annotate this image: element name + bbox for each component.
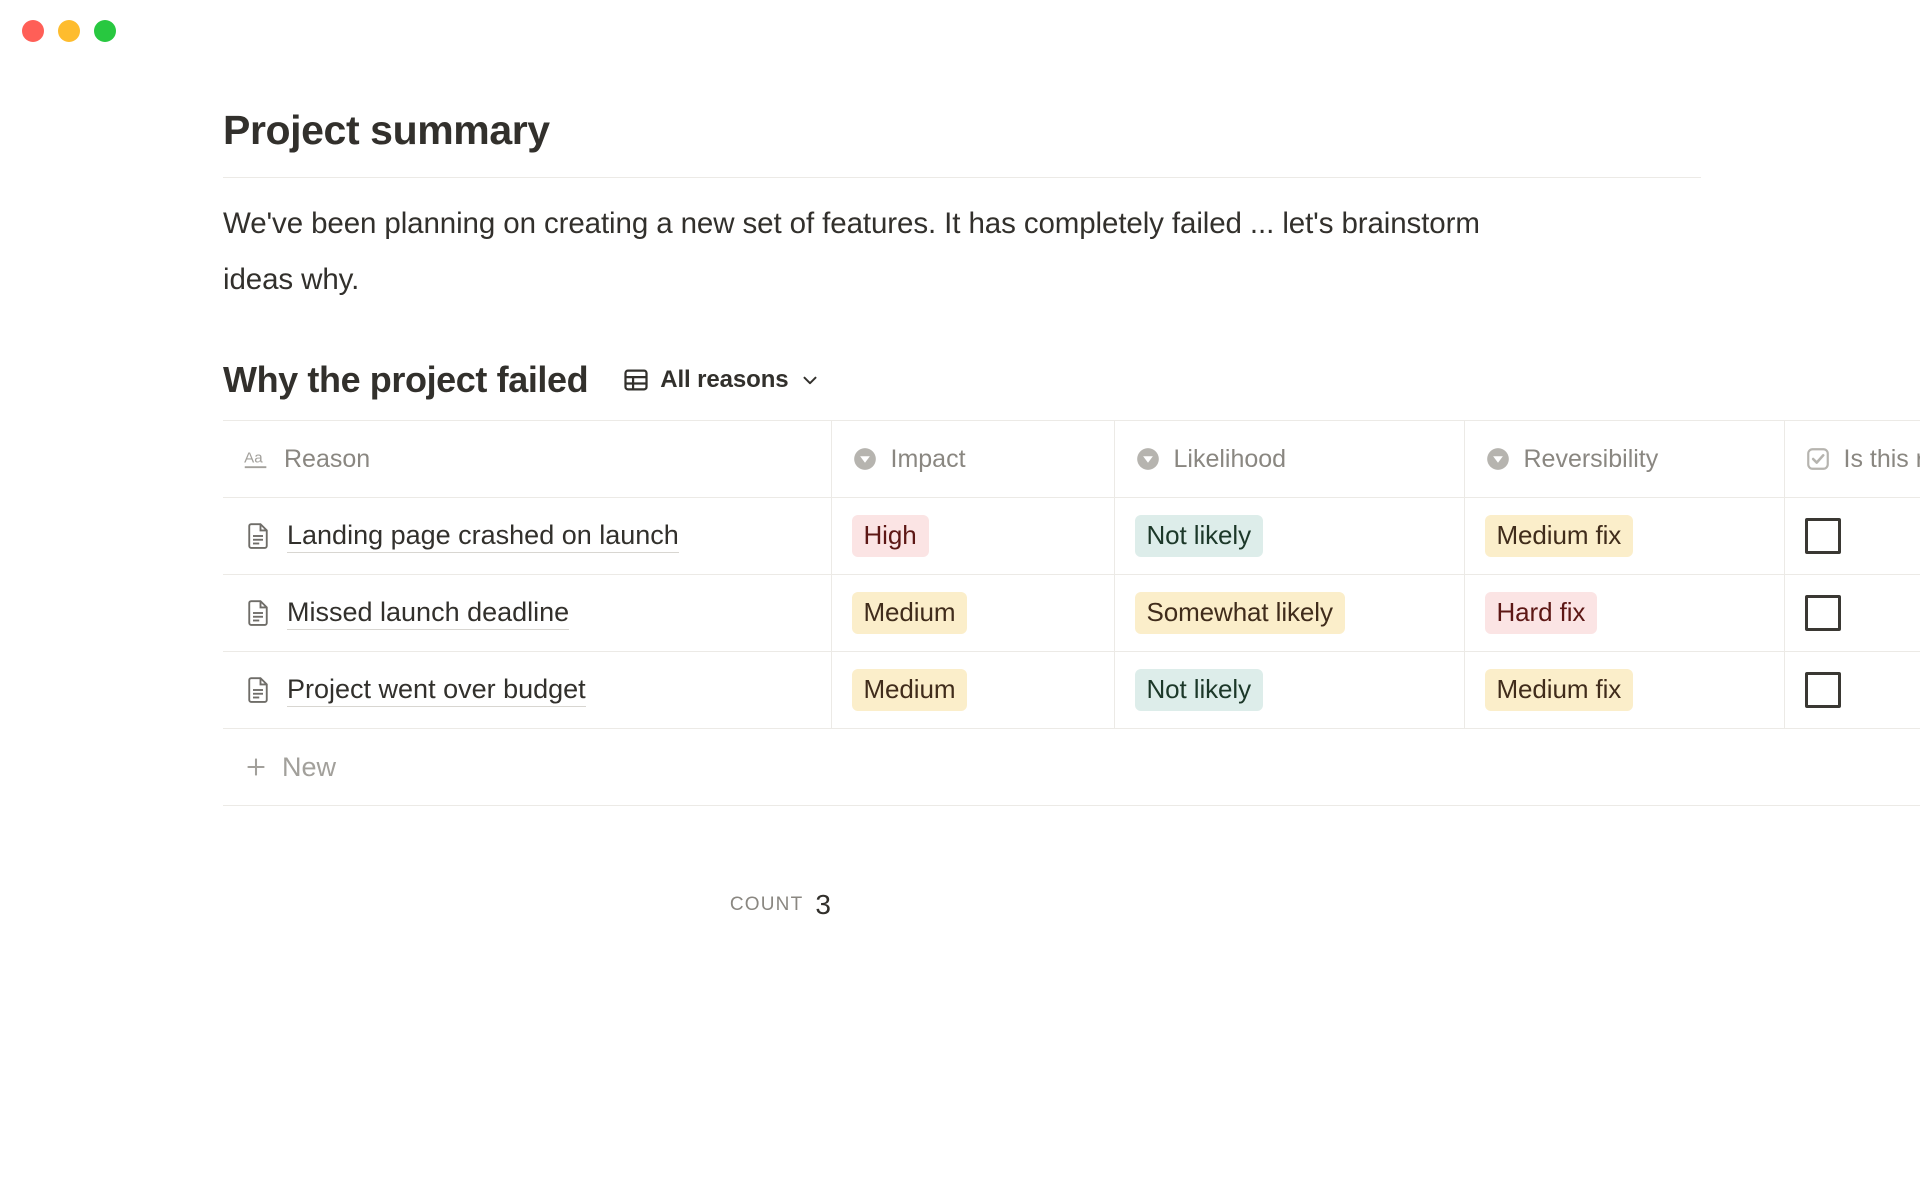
column-header-reason[interactable]: Aa Reason xyxy=(223,421,831,498)
column-header-label: Impact xyxy=(891,445,966,474)
likelihood-tag: Not likely xyxy=(1135,669,1263,712)
cell-likelihood[interactable]: Not likely xyxy=(1114,652,1464,729)
cell-reversibility[interactable]: Hard fix xyxy=(1464,575,1784,652)
table-row[interactable]: Missed launch deadline Medium Somewhat l… xyxy=(223,575,1920,652)
column-header-label: Reversibility xyxy=(1524,445,1659,474)
select-type-icon xyxy=(852,446,878,472)
database-header: Why the project failed All reasons xyxy=(223,362,827,398)
chevron-down-icon xyxy=(799,369,821,391)
text-type-icon: Aa xyxy=(243,445,271,473)
plus-icon xyxy=(243,754,269,780)
new-row[interactable]: New xyxy=(223,729,1920,806)
row-checkbox[interactable] xyxy=(1805,595,1841,631)
cell-likelihood[interactable]: Not likely xyxy=(1114,498,1464,575)
column-header-label: Reason xyxy=(284,445,370,474)
minimize-button[interactable] xyxy=(58,20,80,42)
cell-likelihood[interactable]: Somewhat likely xyxy=(1114,575,1464,652)
page-icon xyxy=(243,675,273,705)
new-row-cell[interactable]: New xyxy=(223,729,1920,806)
reason-title[interactable]: Missed launch deadline xyxy=(287,597,569,630)
table-row[interactable]: Project went over budget Medium Not like… xyxy=(223,652,1920,729)
cell-reversibility[interactable]: Medium fix xyxy=(1464,652,1784,729)
impact-tag: High xyxy=(852,515,929,558)
cell-reason[interactable]: Landing page crashed on launch xyxy=(223,498,831,575)
select-type-icon xyxy=(1135,446,1161,472)
column-header-impact[interactable]: Impact xyxy=(831,421,1114,498)
intro-paragraph: We've been planning on creating a new se… xyxy=(223,196,1543,308)
close-button[interactable] xyxy=(22,20,44,42)
impact-tag: Medium xyxy=(852,592,968,635)
new-row-label: New xyxy=(282,752,336,783)
traffic-lights xyxy=(22,20,116,42)
likelihood-tag: Somewhat likely xyxy=(1135,592,1345,635)
title-divider xyxy=(223,177,1701,178)
checkbox-type-icon xyxy=(1805,446,1831,472)
cell-impact[interactable]: High xyxy=(831,498,1114,575)
cell-checkbox[interactable] xyxy=(1784,498,1920,575)
count-value: 3 xyxy=(815,889,831,921)
cell-impact[interactable]: Medium xyxy=(831,575,1114,652)
cell-reason[interactable]: Project went over budget xyxy=(223,652,831,729)
column-header-label: Likelihood xyxy=(1174,445,1287,474)
column-header-likelihood[interactable]: Likelihood xyxy=(1114,421,1464,498)
page-icon xyxy=(243,521,273,551)
row-checkbox[interactable] xyxy=(1805,518,1841,554)
reason-title[interactable]: Project went over budget xyxy=(287,674,586,707)
database-table: Aa Reason xyxy=(223,420,1920,806)
maximize-button[interactable] xyxy=(94,20,116,42)
count-footer[interactable]: COUNT 3 xyxy=(223,872,831,938)
impact-tag: Medium xyxy=(852,669,968,712)
table-header-row: Aa Reason xyxy=(223,421,1920,498)
window-titlebar xyxy=(0,0,1920,62)
row-checkbox[interactable] xyxy=(1805,672,1841,708)
database-title: Why the project failed xyxy=(223,362,588,398)
view-label: All reasons xyxy=(660,366,788,394)
table-icon xyxy=(622,366,650,394)
column-header-is-this-r[interactable]: Is this r xyxy=(1784,421,1920,498)
svg-text:Aa: Aa xyxy=(244,450,263,467)
column-header-label: Is this r xyxy=(1844,445,1920,474)
cell-checkbox[interactable] xyxy=(1784,652,1920,729)
select-type-icon xyxy=(1485,446,1511,472)
count-label: COUNT xyxy=(730,894,804,916)
reason-title[interactable]: Landing page crashed on launch xyxy=(287,520,679,553)
view-selector[interactable]: All reasons xyxy=(616,363,826,397)
column-header-reversibility[interactable]: Reversibility xyxy=(1464,421,1784,498)
page-title: Project summary xyxy=(223,106,550,155)
cell-impact[interactable]: Medium xyxy=(831,652,1114,729)
app-window: Project summary We've been planning on c… xyxy=(0,0,1920,1200)
cell-reason[interactable]: Missed launch deadline xyxy=(223,575,831,652)
table-row[interactable]: Landing page crashed on launch High Not … xyxy=(223,498,1920,575)
cell-reversibility[interactable]: Medium fix xyxy=(1464,498,1784,575)
likelihood-tag: Not likely xyxy=(1135,515,1263,558)
reversibility-tag: Medium fix xyxy=(1485,669,1634,712)
reversibility-tag: Hard fix xyxy=(1485,592,1598,635)
page-icon xyxy=(243,598,273,628)
reversibility-tag: Medium fix xyxy=(1485,515,1634,558)
cell-checkbox[interactable] xyxy=(1784,575,1920,652)
